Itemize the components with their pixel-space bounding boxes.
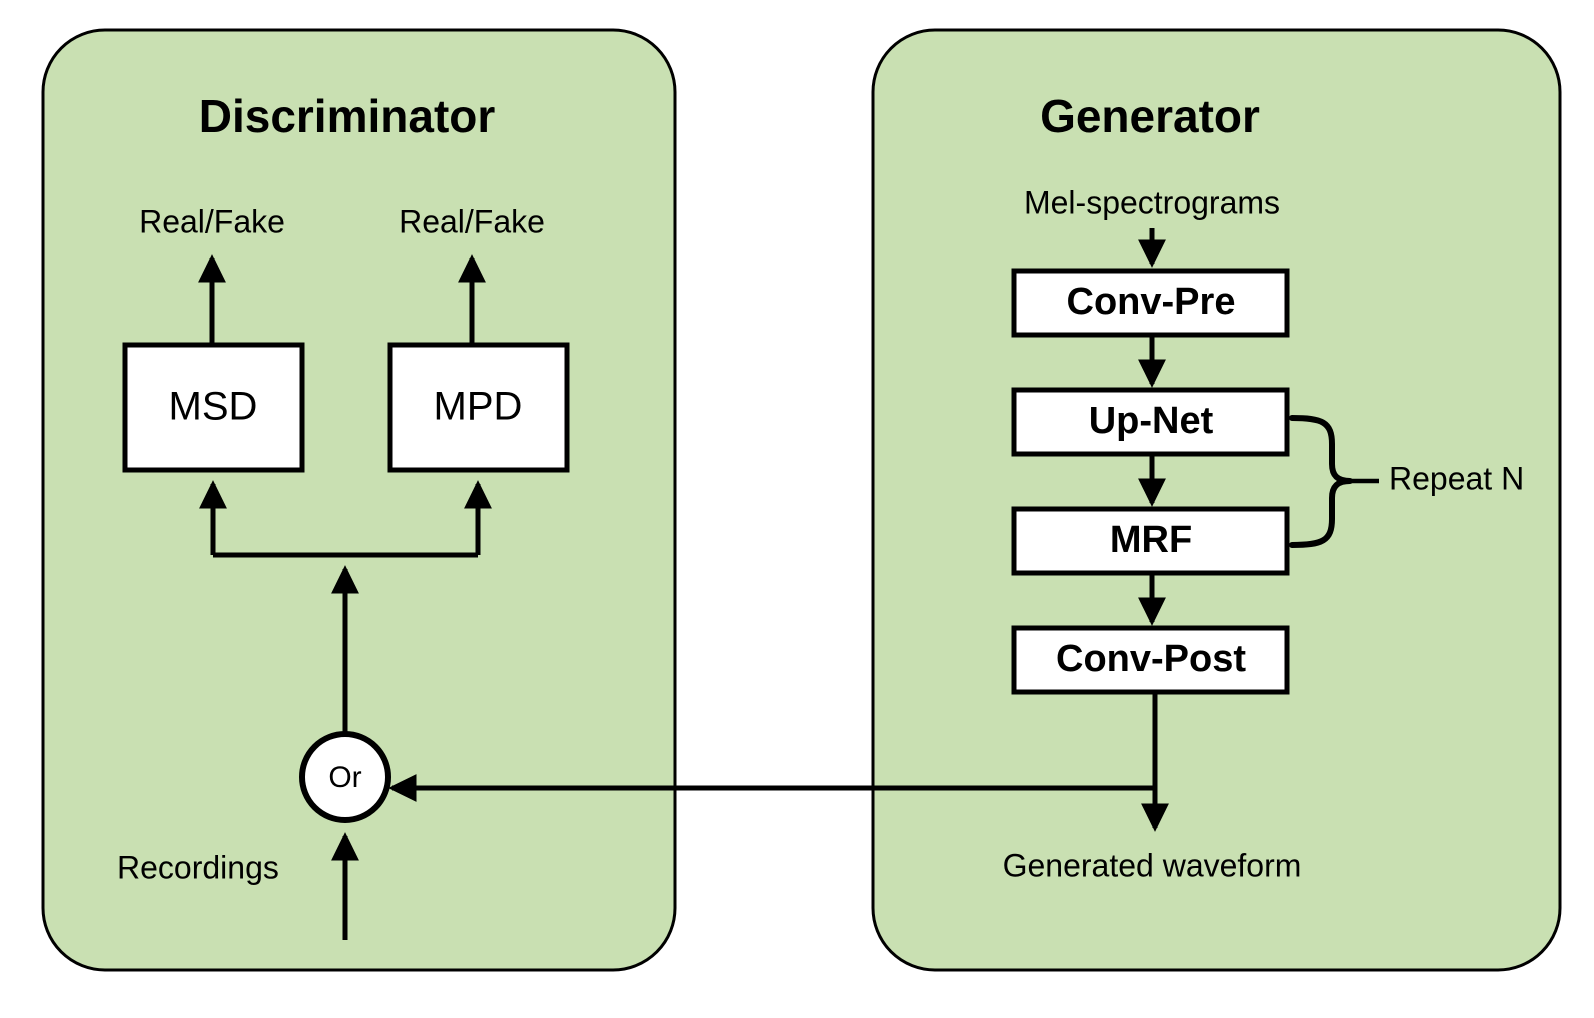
up-net-block-label: Up-Net xyxy=(1089,400,1214,442)
msd-output-label: Real/Fake xyxy=(139,203,285,239)
discriminator-panel: Discriminator xyxy=(43,30,675,970)
conv-pre-block-label: Conv-Pre xyxy=(1067,281,1236,323)
mel-spectrograms-label: Mel-spectrograms xyxy=(1024,184,1280,220)
conv-post-block-label: Conv-Post xyxy=(1056,638,1246,680)
recordings-label: Recordings xyxy=(117,849,279,885)
generator-panel: Generator xyxy=(873,30,1560,970)
mrf-block-label: MRF xyxy=(1110,519,1192,561)
mpd-block: MPD xyxy=(390,345,567,470)
conv-pre-block: Conv-Pre xyxy=(1014,271,1287,335)
mpd-output-label: Real/Fake xyxy=(399,203,545,239)
discriminator-panel-background xyxy=(43,30,675,970)
mrf-block: MRF xyxy=(1014,509,1287,573)
conv-post-block: Conv-Post xyxy=(1014,628,1287,692)
discriminator-title: Discriminator xyxy=(199,90,496,142)
or-node-label: Or xyxy=(328,761,361,794)
generator-panel-background xyxy=(873,30,1560,970)
repeat-n-label: Repeat N xyxy=(1389,460,1524,496)
up-net-block: Up-Net xyxy=(1014,390,1287,454)
mpd-block-label: MPD xyxy=(434,385,523,429)
diagram-canvas: Discriminator Real/Fake Real/Fake MSD MP… xyxy=(0,0,1594,1018)
diagram-svg: Discriminator Real/Fake Real/Fake MSD MP… xyxy=(0,0,1594,1018)
generator-title: Generator xyxy=(1040,90,1260,142)
generated-waveform-label: Generated waveform xyxy=(1003,847,1302,883)
msd-block-label: MSD xyxy=(169,385,258,429)
or-node: Or xyxy=(302,734,388,820)
msd-block: MSD xyxy=(125,345,302,470)
